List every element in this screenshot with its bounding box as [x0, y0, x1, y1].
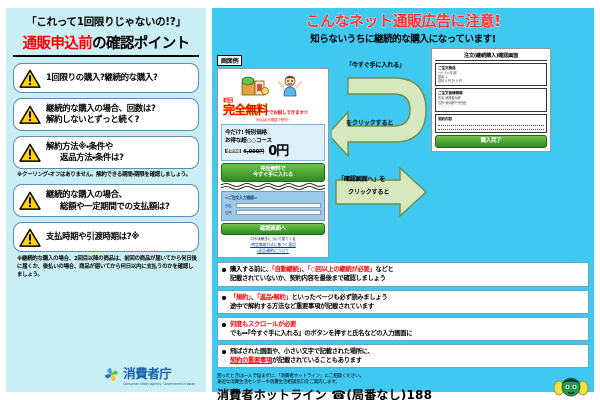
hotline-footer: 困ったときは一人で悩まずに、「消費者ホットライン」にご相談ください。 身近な消費… [217, 372, 589, 400]
confirm-contract-dots-1 [438, 123, 544, 126]
checklist-card-4-text: 継続的な購入の場合、 総額や一定期間での支払額は? [46, 189, 170, 212]
left-title-quote: 「これって1回限りじゃないの!?」 [13, 16, 199, 29]
warning-triangle-icon [19, 191, 41, 210]
mock-order-form: <ご注文入力画面> 氏名 住所 [221, 191, 325, 221]
checklist-card-2: 継続的な購入の場合、回数は? 解約しないとずっと続く? [13, 98, 199, 131]
confirm-section-contract-head: 契約内容 [438, 117, 544, 122]
checklist-card-5-text: 支払時期や引渡時期は?※ [46, 231, 139, 242]
checklist-card-2-line1: 継続的な購入の場合、回数は? [46, 103, 156, 113]
b4-s0: 飛ばされた画面や、小さい文字で記載された場所に、 [230, 348, 374, 355]
mock-form-input-address[interactable] [236, 210, 321, 215]
checklist-card-3-line2: 返品方法・条件は? [46, 152, 124, 163]
advice-bullet-3: 何度もスクロールが必要 でも・・・『今すぐ手に入れる』のボタンを押すと氏名などの… [217, 317, 589, 341]
mock-ad-screen: 初回 完全無料 でお試しできます!! 申込は!お電話で受付!! 今だけ! 特別価… [217, 68, 329, 259]
left-title-main-tail: の確認 [92, 36, 134, 52]
caa-logo-text: 消費者庁 Consumer Affairs Agency, Government… [123, 363, 195, 386]
confirm-screen-button[interactable]: 確認画面へ [221, 223, 325, 236]
bullet-dot-icon [222, 350, 226, 354]
warning-triangle-icon [19, 69, 41, 88]
mock-ad-price-line1: 今だけ! 特別価格 [225, 128, 321, 136]
caa-logo: 消費者庁 Consumer Affairs Agency, Government… [13, 359, 199, 388]
advice-bullet-2-text: 「規約」、「返品・解約」といったページも必ず読みましょう 途中で解約する方法など… [230, 293, 387, 311]
bullet-dot-icon [222, 323, 226, 327]
confirm-section-customer: ご注文者様情報 氏名 消費者太郎 住所 東京都千代田区 ・・・・・ [435, 88, 547, 112]
mock-ad-price-line2: お得な超○○コース [225, 136, 321, 144]
mock-ad-free-big: 完全無料 [223, 104, 268, 116]
hotline-footer-text: 困ったときは一人で悩まずに、「消費者ホットライン」にご相談ください。 身近な消費… [217, 374, 549, 400]
mock-form-row-name: 氏名 [225, 203, 321, 208]
bullet-dot-icon [222, 268, 226, 272]
purchase-complete-button[interactable]: 購入完了 [435, 135, 547, 148]
confirm-screen-title: 注文(継続購入)確認画面 [435, 52, 547, 61]
left-title-main: 通販申込前の確認ポイント [13, 32, 199, 57]
link-return-cancel[interactable]: ・返品・解約について [221, 248, 325, 254]
advice-bullet-1-text: 購入する前に、「自動継続」、「○回以上の継続が必要」などと 記載されていないか、… [230, 265, 394, 283]
b1-s4: などと [376, 266, 394, 273]
mock-form-label-name: 氏名 [225, 203, 234, 208]
right-title-sub: 知らないうちに継続的な購入になっています! [217, 31, 589, 45]
mock-ad-free-tail: でお試しできます!! [269, 110, 308, 116]
b2-s3: といったページも必ず読みましょう [292, 294, 388, 301]
advice-bullet-4-text: 飛ばされた画面や、小さい文字で記載された場所に、 契約の重要事項が記載されている… [230, 347, 374, 365]
checklist-card-4-line1: 継続的な購入の場合、 [46, 189, 127, 199]
footnote-payment-timing: ※継続的な購入の場合、2回目以降の商品は、前回の商品が届いてから何日後に届くか、… [17, 256, 197, 279]
product-box-icon [241, 74, 271, 98]
mock-form-input-name[interactable] [236, 203, 321, 208]
b2-l2: 途中で解約する方法など重要事項が記載されています [230, 303, 374, 310]
caa-logo-name: 消費者庁 [123, 366, 171, 381]
mascot-icon [553, 372, 589, 400]
confirm-section-contract: 契約内容 [435, 114, 547, 133]
mock-form-row-address: 住所 [225, 210, 321, 215]
checklist-card-2-text: 継続的な購入の場合、回数は? 解約しないとずっと続く? [46, 103, 156, 126]
confirm-customer-line-3: ・・・・・ [438, 105, 544, 109]
confirm-screen-mock: 注文(継続購入)確認画面 ご注文商品 ○○ 3ヶ月・超 数量 1 送料 0 円 … [431, 48, 551, 153]
confirm-screen-column: 注文(継続購入)確認画面 ご注文商品 ○○ 3ヶ月・超 数量 1 送料 0 円 … [431, 48, 551, 259]
caa-pinwheel-icon [103, 366, 120, 383]
warning-triangle-icon [19, 143, 41, 162]
mock-order-form-head: <ご注文入力画面> [225, 195, 321, 201]
warning-triangle-icon [19, 228, 41, 247]
advice-bullet-4: 飛ばされた画面や、小さい文字で記載された場所に、 契約の重要事項が記載されている… [217, 344, 589, 368]
callout-confirm: 「確認画面へ」を [338, 176, 385, 184]
b1-s0: 購入する前に、 [230, 266, 272, 273]
mock-ad-price-label: 通常価格 [225, 149, 241, 153]
mock-form-links: 口や手続きについて見てくる ・特定商取引法に基づく表記 ・返品・解約について [221, 237, 325, 254]
poster-page: 「これって1回限りじゃないの!?」 通販申込前の確認ポイント 1回限りの購入?継… [0, 0, 600, 400]
warning-triangle-icon [19, 105, 41, 124]
mock-ad-free-sub: 申込は!お電話で受付!! [221, 117, 325, 122]
caa-logo-subtitle: Consumer Affairs Agency, Government of J… [123, 382, 195, 386]
callout-get-now: 「今すぐ手に入れる」 [346, 62, 405, 70]
b2-s2: 「返品・解約」 [257, 294, 292, 301]
left-title-main-red: 通販申込前 [23, 36, 93, 52]
checklist-card-5: 支払時期や引渡時期は?※ [13, 222, 199, 252]
checklist-card-3-text: 解約方法※・条件や 返品方法・条件は? [46, 141, 124, 164]
scroll-break-wave-icon [221, 183, 325, 190]
confirm-section-items: ご注文商品 ○○ 3ヶ月・超 数量 1 送料 0 円 計 0 円 [435, 63, 547, 87]
callout-get-now-click: をクリックすると [346, 120, 393, 128]
b1-s1: 「自動継続」 [272, 266, 302, 273]
b1-s3: 「○回以上の継続が必要」 [307, 266, 375, 273]
checklist-card-1-text: 1回限りの購入?継続的な購入? [46, 72, 158, 83]
checklist-card-2-line2: 解約しないとずっと続く? [46, 114, 156, 125]
get-now-button-line1: 完全無料で [261, 166, 286, 172]
b3-l2: でも・・・『今すぐ手に入れる』のボタンを押すと氏名などの入力画面に [230, 330, 412, 337]
advice-bullet-2: 「規約」、「返品・解約」といったページも必ず読みましょう 途中で解約する方法など… [217, 290, 589, 314]
screen-example-label: 画面例 [217, 55, 242, 66]
mock-ad-images [221, 72, 325, 99]
left-panel: 「これって1回限りじゃないの!?」 通販申込前の確認ポイント 1回限りの購入?継… [6, 8, 206, 392]
mock-form-label-address: 住所 [225, 210, 234, 215]
checklist-card-3-line1: 解約方法※・条件や [46, 141, 113, 151]
b4-l2b: が記載されていることもあります [272, 357, 362, 364]
b3-s0: 何度もスクロールが必要 [230, 321, 296, 328]
advice-bullet-1: 購入する前に、「自動継続」、「○回以上の継続が必要」などと 記載されていないか、… [217, 262, 589, 286]
mock-ad-price-strike: 6,000円 [243, 148, 264, 155]
get-now-button[interactable]: 完全無料で 今すぐ手に入れる [221, 163, 325, 182]
checklist-card-3: 解約方法※・条件や 返品方法・条件は? [13, 136, 199, 169]
right-panel: こんなネット通販広告に注意! 知らないうちに継続的な購入になっています! 画面例 [212, 8, 594, 392]
mock-ad-price-row: 通常価格 6,000円 0円 [225, 145, 321, 158]
hotline-number: 消費者ホットライン ☎(局番なし)188 [217, 388, 549, 400]
mock-ad-price-now: 0円 [268, 145, 288, 158]
checklist-card-1: 1回限りの購入?継続的な購入? [13, 63, 199, 93]
bullet-dot-icon [222, 296, 226, 300]
b4-l2a: 契約の重要事項 [230, 357, 272, 364]
get-now-button-line2: 今すぐ手に入れる [253, 172, 293, 178]
b2-s0: 「規約」 [230, 294, 251, 301]
confirm-contract-dots-2 [438, 127, 544, 130]
callout-confirm-click: クリックすると [348, 189, 389, 197]
checklist-card-1-line1: 1回限りの購入?継続的な購入? [46, 72, 158, 82]
hotline-note-line2: 身近な消費生活センターや消費生活相談窓口をご案内します。 [217, 380, 549, 386]
checklist-card-4: 継続的な購入の場合、 総額や一定期間での支払額は? [13, 184, 199, 217]
footnote-cooling-off: ※クーリング・オフはありません。解約できる期間・期限を確認しましょう。 [17, 172, 199, 180]
happy-person-icon [275, 74, 305, 98]
left-title-main-small: ポイント [134, 36, 190, 52]
mock-ad-price-box: 今だけ! 特別価格 お得な超○○コース 通常価格 6,000円 0円 [221, 124, 325, 161]
b1-l2: 記載されていないか、契約内容を最後まで確認しましょう [230, 275, 386, 282]
confirm-items-line-3: 送料 0 円 計 0 円 [438, 79, 544, 83]
advice-bullets: 購入する前に、「自動継続」、「○回以上の継続が必要」などと 記載されていないか、… [217, 262, 589, 368]
screen-example-column: 画面例 [217, 48, 329, 259]
flow-arrows-icon [332, 64, 428, 244]
arrows-column: 「今すぐ手に入れる」 をクリックすると 「確認画面へ」を クリックすると [332, 48, 428, 259]
right-title-main: こんなネット通販広告に注意! [217, 13, 589, 30]
flow-diagram: 画面例 [217, 48, 589, 259]
advice-bullet-3-text: 何度もスクロールが必要 でも・・・『今すぐ手に入れる』のボタンを押すと氏名などの… [230, 320, 412, 338]
mock-ad-headline: 完全無料 でお試しできます!! [223, 104, 325, 116]
checklist-card-4-line2: 総額や一定期間での支払額は? [46, 201, 170, 212]
checklist-card-5-line1: 支払時期や引渡時期は?※ [46, 231, 139, 241]
